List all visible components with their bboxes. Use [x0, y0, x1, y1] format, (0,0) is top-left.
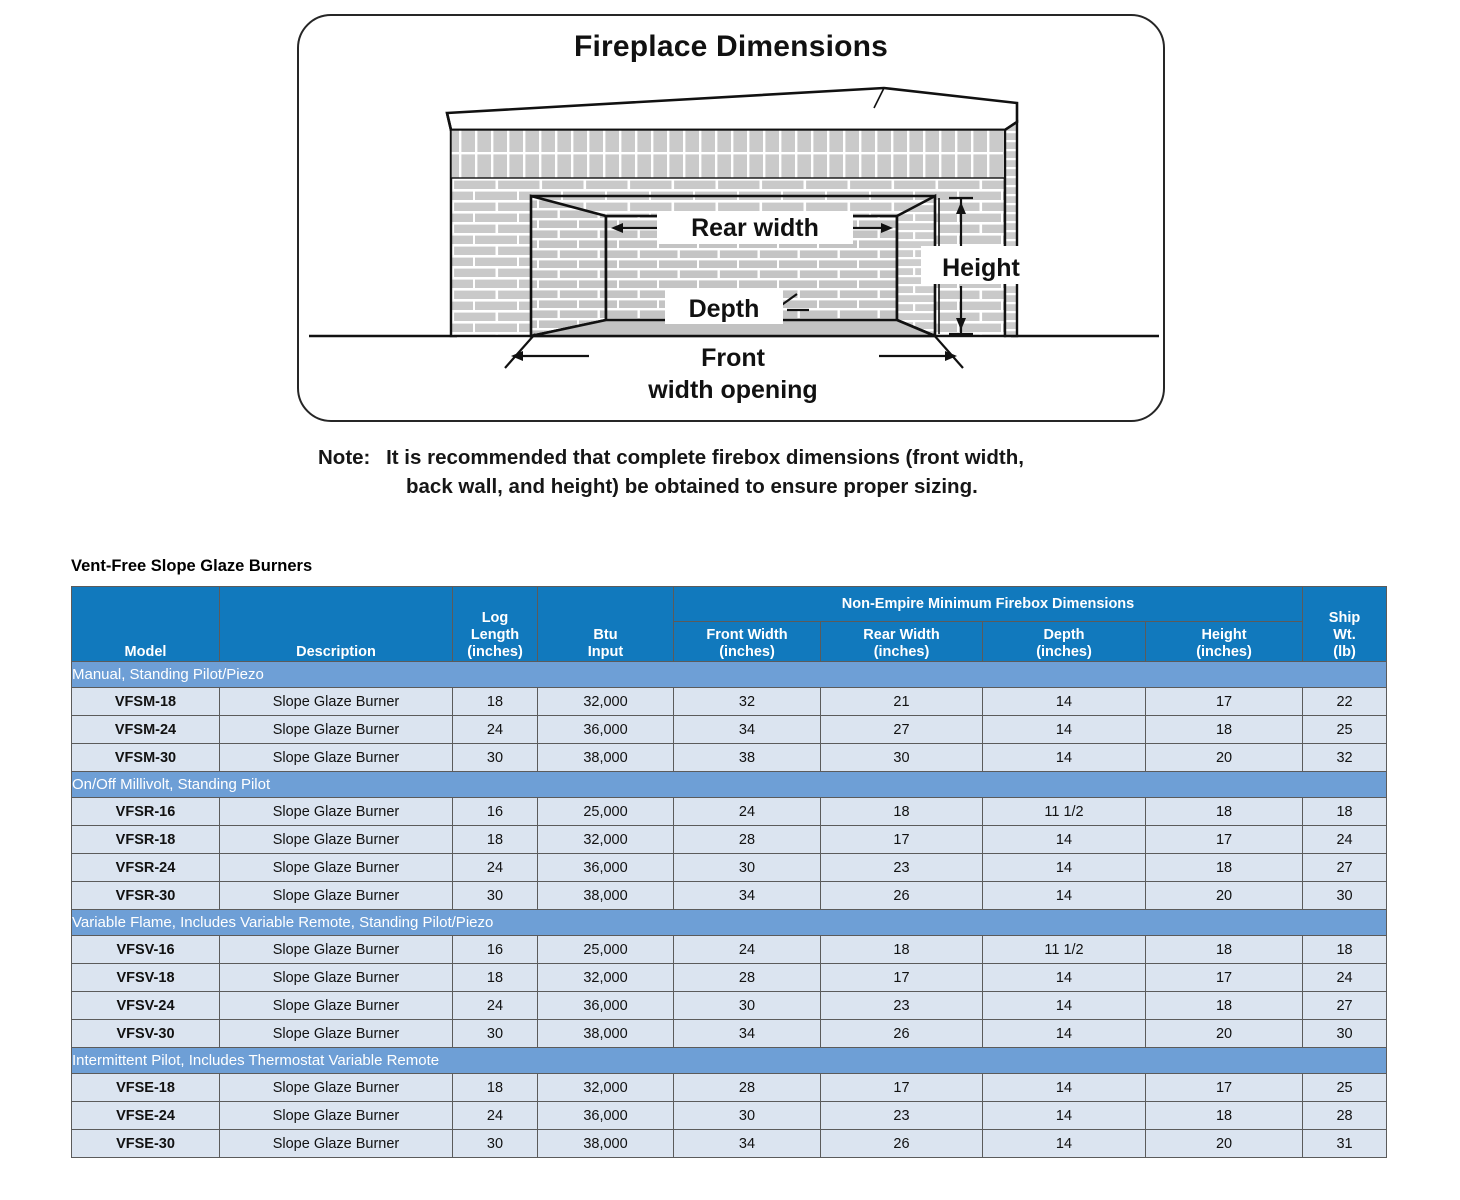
col-header-ship-weight: Ship Wt. (lb)	[1303, 587, 1387, 662]
cell-model: VFSV-18	[72, 964, 220, 992]
cell-description: Slope Glaze Burner	[220, 936, 453, 964]
cell-description: Slope Glaze Burner	[220, 1020, 453, 1048]
col-group-header-firebox-dimensions: Non-Empire Minimum Firebox Dimensions	[674, 587, 1303, 622]
cell-front-width: 24	[674, 798, 821, 826]
cell-front-width: 34	[674, 882, 821, 910]
col-header-height: Height (inches)	[1146, 622, 1303, 662]
cell-front-width: 34	[674, 1130, 821, 1158]
cell-height: 20	[1146, 744, 1303, 772]
col-header-log-length: Log Length (inches)	[453, 587, 538, 662]
cell-btu: 38,000	[538, 1130, 674, 1158]
table-section-title: Intermittent Pilot, Includes Thermostat …	[72, 1048, 1387, 1074]
cell-height: 17	[1146, 688, 1303, 716]
cell-height: 18	[1146, 798, 1303, 826]
cell-rear-width: 26	[821, 1020, 983, 1048]
cell-model: VFSV-16	[72, 936, 220, 964]
height-label: Height	[942, 254, 1020, 282]
cell-log-length: 18	[453, 964, 538, 992]
cell-model: VFSR-30	[72, 882, 220, 910]
cell-front-width: 30	[674, 1102, 821, 1130]
rear-width-label: Rear width	[691, 214, 819, 242]
table-caption: Vent-Free Slope Glaze Burners	[71, 557, 312, 576]
cell-rear-width: 26	[821, 882, 983, 910]
front-width-line-2: (inches)	[674, 644, 820, 661]
cell-front-width: 32	[674, 688, 821, 716]
cell-model: VFSM-24	[72, 716, 220, 744]
cell-height: 17	[1146, 964, 1303, 992]
cell-log-length: 30	[453, 1130, 538, 1158]
table-row: VFSV-16Slope Glaze Burner1625,000241811 …	[72, 936, 1387, 964]
table-row: VFSM-30Slope Glaze Burner3038,0003830142…	[72, 744, 1387, 772]
cell-rear-width: 30	[821, 744, 983, 772]
cell-height: 18	[1146, 936, 1303, 964]
cell-description: Slope Glaze Burner	[220, 882, 453, 910]
cell-description: Slope Glaze Burner	[220, 992, 453, 1020]
cell-front-width: 28	[674, 826, 821, 854]
cell-depth: 11 1/2	[983, 936, 1146, 964]
cell-ship-wt: 24	[1303, 826, 1387, 854]
cell-btu: 25,000	[538, 936, 674, 964]
cell-description: Slope Glaze Burner	[220, 1130, 453, 1158]
cell-log-length: 16	[453, 936, 538, 964]
table-row: VFSE-24Slope Glaze Burner2436,0003023141…	[72, 1102, 1387, 1130]
cell-rear-width: 17	[821, 826, 983, 854]
cell-log-length: 24	[453, 854, 538, 882]
cell-ship-wt: 25	[1303, 1074, 1387, 1102]
cell-height: 18	[1146, 854, 1303, 882]
height-line-1: Height	[1146, 627, 1302, 644]
cell-btu: 25,000	[538, 798, 674, 826]
cell-description: Slope Glaze Burner	[220, 854, 453, 882]
col-header-depth: Depth (inches)	[983, 622, 1146, 662]
cell-btu: 36,000	[538, 1102, 674, 1130]
fireplace-diagram: Rear width Height Depth Fron	[299, 68, 1167, 418]
cell-front-width: 28	[674, 964, 821, 992]
log-length-line-3: (inches)	[453, 644, 537, 661]
col-header-btu-input: Btu Input	[538, 587, 674, 662]
cell-description: Slope Glaze Burner	[220, 964, 453, 992]
table-row: VFSM-24Slope Glaze Burner2436,0003427141…	[72, 716, 1387, 744]
cell-btu: 32,000	[538, 826, 674, 854]
table-section-row: Manual, Standing Pilot/Piezo	[72, 662, 1387, 688]
table-body: Manual, Standing Pilot/PiezoVFSM-18Slope…	[72, 662, 1387, 1158]
cell-ship-wt: 27	[1303, 992, 1387, 1020]
table-row: VFSV-18Slope Glaze Burner1832,0002817141…	[72, 964, 1387, 992]
cell-height: 18	[1146, 992, 1303, 1020]
table-row: VFSE-18Slope Glaze Burner1832,0002817141…	[72, 1074, 1387, 1102]
cell-log-length: 24	[453, 992, 538, 1020]
cell-depth: 14	[983, 1102, 1146, 1130]
cell-log-length: 18	[453, 826, 538, 854]
cell-depth: 14	[983, 854, 1146, 882]
depth-line-2: (inches)	[983, 644, 1145, 661]
cell-rear-width: 21	[821, 688, 983, 716]
cell-btu: 38,000	[538, 1020, 674, 1048]
cell-btu: 32,000	[538, 1074, 674, 1102]
cell-height: 20	[1146, 882, 1303, 910]
col-header-rear-width: Rear Width (inches)	[821, 622, 983, 662]
cell-depth: 14	[983, 882, 1146, 910]
firebox-left-wall	[531, 196, 606, 336]
cell-ship-wt: 25	[1303, 716, 1387, 744]
cell-height: 18	[1146, 1102, 1303, 1130]
cell-ship-wt: 22	[1303, 688, 1387, 716]
cell-front-width: 28	[674, 1074, 821, 1102]
table-row: VFSR-30Slope Glaze Burner3038,0003426142…	[72, 882, 1387, 910]
cell-ship-wt: 27	[1303, 854, 1387, 882]
cell-ship-wt: 18	[1303, 798, 1387, 826]
cell-btu: 32,000	[538, 688, 674, 716]
cell-btu: 36,000	[538, 716, 674, 744]
cell-log-length: 30	[453, 1020, 538, 1048]
rear-width-line-2: (inches)	[821, 644, 982, 661]
cell-depth: 14	[983, 826, 1146, 854]
cell-btu: 36,000	[538, 992, 674, 1020]
cell-description: Slope Glaze Burner	[220, 1102, 453, 1130]
cell-description: Slope Glaze Burner	[220, 798, 453, 826]
cell-model: VFSE-18	[72, 1074, 220, 1102]
cell-ship-wt: 31	[1303, 1130, 1387, 1158]
table-row: VFSR-18Slope Glaze Burner1832,0002817141…	[72, 826, 1387, 854]
front-width-label-line1: Front	[701, 344, 766, 372]
front-width-line-1: Front Width	[674, 627, 820, 644]
cell-ship-wt: 18	[1303, 936, 1387, 964]
cell-depth: 14	[983, 716, 1146, 744]
table-row: VFSV-24Slope Glaze Burner2436,0003023141…	[72, 992, 1387, 1020]
cell-height: 20	[1146, 1130, 1303, 1158]
cell-ship-wt: 28	[1303, 1102, 1387, 1130]
cell-depth: 14	[983, 964, 1146, 992]
cell-btu: 38,000	[538, 882, 674, 910]
front-width-label-line2: width opening	[647, 376, 817, 404]
mantel-slab	[447, 88, 1017, 130]
table-head: Model Description Log Length (inches) Bt…	[72, 587, 1387, 662]
cell-depth: 11 1/2	[983, 798, 1146, 826]
col-header-model: Model	[72, 587, 220, 662]
cell-front-width: 34	[674, 1020, 821, 1048]
cell-front-width: 24	[674, 936, 821, 964]
cell-rear-width: 17	[821, 1074, 983, 1102]
cell-depth: 14	[983, 1130, 1146, 1158]
log-length-line-2: Length	[453, 627, 537, 644]
cell-rear-width: 26	[821, 1130, 983, 1158]
cell-model: VFSM-18	[72, 688, 220, 716]
col-header-description: Description	[220, 587, 453, 662]
cell-description: Slope Glaze Burner	[220, 826, 453, 854]
cell-log-length: 18	[453, 688, 538, 716]
cell-ship-wt: 24	[1303, 964, 1387, 992]
cell-description: Slope Glaze Burner	[220, 1074, 453, 1102]
table-section-row: Variable Flame, Includes Variable Remote…	[72, 910, 1387, 936]
cell-depth: 14	[983, 992, 1146, 1020]
cell-front-width: 38	[674, 744, 821, 772]
table-row: VFSV-30Slope Glaze Burner3038,0003426142…	[72, 1020, 1387, 1048]
cell-ship-wt: 32	[1303, 744, 1387, 772]
cell-model: VFSR-24	[72, 854, 220, 882]
cell-rear-width: 17	[821, 964, 983, 992]
cell-height: 17	[1146, 826, 1303, 854]
cell-rear-width: 18	[821, 936, 983, 964]
cell-model: VFSV-24	[72, 992, 220, 1020]
cell-ship-wt: 30	[1303, 882, 1387, 910]
height-line-2: (inches)	[1146, 644, 1302, 661]
note-block: Note: It is recommended that complete fi…	[318, 443, 1218, 501]
fireplace-dimensions-panel: Fireplace Dimensions	[297, 14, 1165, 422]
cell-model: VFSE-30	[72, 1130, 220, 1158]
note-line-1: It is recommended that complete firebox …	[386, 446, 1024, 469]
cell-front-width: 30	[674, 992, 821, 1020]
rear-width-line-1: Rear Width	[821, 627, 982, 644]
cell-depth: 14	[983, 688, 1146, 716]
cell-log-length: 16	[453, 798, 538, 826]
cell-description: Slope Glaze Burner	[220, 744, 453, 772]
cell-log-length: 30	[453, 744, 538, 772]
cell-front-width: 30	[674, 854, 821, 882]
col-header-front-width: Front Width (inches)	[674, 622, 821, 662]
cell-depth: 14	[983, 1074, 1146, 1102]
cell-log-length: 30	[453, 882, 538, 910]
cell-model: VFSM-30	[72, 744, 220, 772]
note-text: It is recommended that complete firebox …	[318, 446, 1218, 501]
cell-model: VFSR-16	[72, 798, 220, 826]
cell-rear-width: 18	[821, 798, 983, 826]
cell-rear-width: 23	[821, 992, 983, 1020]
note-label: Note:	[318, 446, 370, 469]
ship-line-3: (lb)	[1303, 644, 1386, 661]
cell-rear-width: 23	[821, 854, 983, 882]
cell-model: VFSV-30	[72, 1020, 220, 1048]
table-row: VFSR-24Slope Glaze Burner2436,0003023141…	[72, 854, 1387, 882]
cell-model: VFSR-18	[72, 826, 220, 854]
depth-line-1: Depth	[983, 627, 1145, 644]
table-row: VFSE-30Slope Glaze Burner3038,0003426142…	[72, 1130, 1387, 1158]
cell-ship-wt: 30	[1303, 1020, 1387, 1048]
cell-front-width: 34	[674, 716, 821, 744]
burner-spec-table: Model Description Log Length (inches) Bt…	[71, 586, 1387, 1158]
depth-label: Depth	[689, 295, 760, 323]
table-section-title: Variable Flame, Includes Variable Remote…	[72, 910, 1387, 936]
table-section-row: On/Off Millivolt, Standing Pilot	[72, 772, 1387, 798]
cell-height: 17	[1146, 1074, 1303, 1102]
cell-rear-width: 27	[821, 716, 983, 744]
table-row: VFSM-18Slope Glaze Burner1832,0003221141…	[72, 688, 1387, 716]
cell-description: Slope Glaze Burner	[220, 716, 453, 744]
cell-log-length: 24	[453, 1102, 538, 1130]
table-header-row-1: Model Description Log Length (inches) Bt…	[72, 587, 1387, 622]
log-length-line-1: Log	[453, 610, 537, 627]
table-row: VFSR-16Slope Glaze Burner1625,000241811 …	[72, 798, 1387, 826]
cell-description: Slope Glaze Burner	[220, 688, 453, 716]
table-section-title: On/Off Millivolt, Standing Pilot	[72, 772, 1387, 798]
cell-log-length: 18	[453, 1074, 538, 1102]
cell-depth: 14	[983, 744, 1146, 772]
ship-line-1: Ship	[1303, 610, 1386, 627]
cell-height: 20	[1146, 1020, 1303, 1048]
table-section-title: Manual, Standing Pilot/Piezo	[72, 662, 1387, 688]
cell-rear-width: 23	[821, 1102, 983, 1130]
btu-line-2: Input	[538, 644, 673, 661]
btu-line-1: Btu	[538, 627, 673, 644]
cell-log-length: 24	[453, 716, 538, 744]
cell-height: 18	[1146, 716, 1303, 744]
cell-model: VFSE-24	[72, 1102, 220, 1130]
cell-btu: 36,000	[538, 854, 674, 882]
diagram-title: Fireplace Dimensions	[299, 30, 1163, 64]
chimney-side-face	[1005, 122, 1017, 336]
table-section-row: Intermittent Pilot, Includes Thermostat …	[72, 1048, 1387, 1074]
cell-depth: 14	[983, 1020, 1146, 1048]
note-line-2: back wall, and height) be obtained to en…	[406, 472, 1218, 501]
ship-line-2: Wt.	[1303, 627, 1386, 644]
cell-btu: 38,000	[538, 744, 674, 772]
cell-btu: 32,000	[538, 964, 674, 992]
